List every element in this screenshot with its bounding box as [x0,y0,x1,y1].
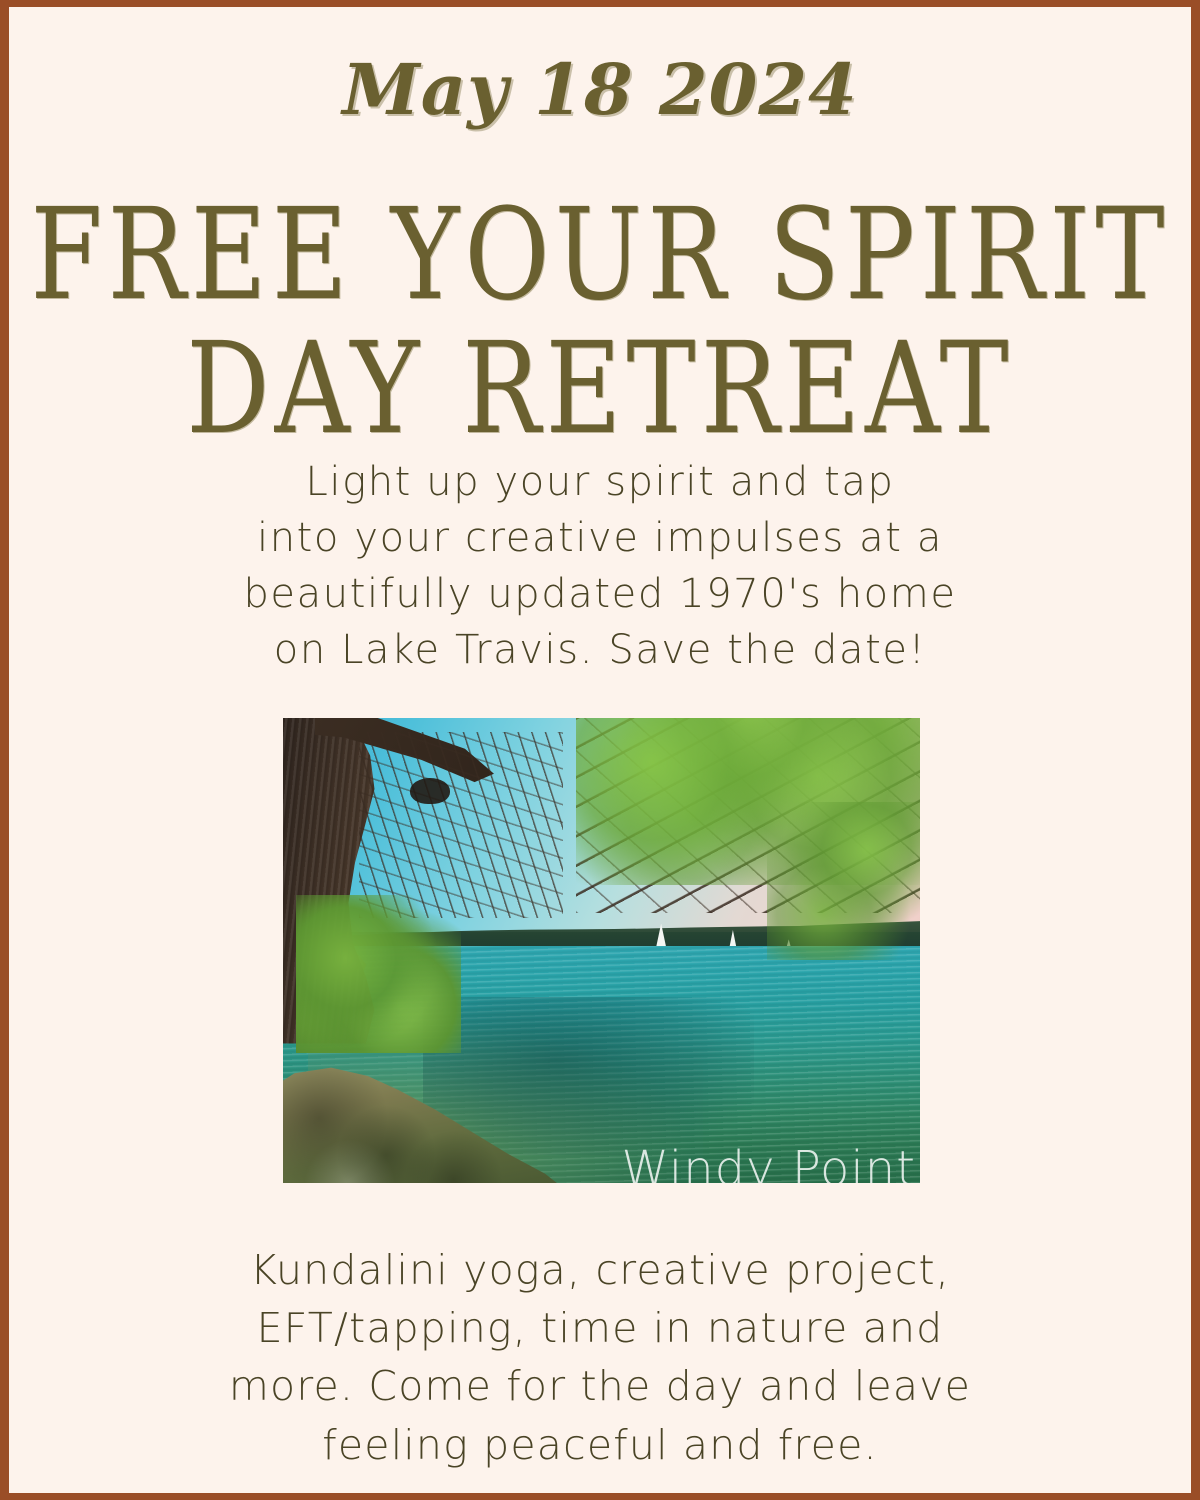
activities-paragraph: Kundalini yoga, creative project, EFT/ta… [129,1241,1071,1474]
activities-line-4: feeling peaceful and free. [129,1416,1071,1474]
page-title: Free Your Spirit Day Retreat [9,193,1191,429]
lake-photo: Windy Point [283,718,920,1183]
event-date: May 18 2024 [9,55,1191,125]
activities-line-1: Kundalini yoga, creative project, [129,1241,1071,1299]
intro-line-2: into your creative impulses at a [159,510,1041,566]
intro-line-1: Light up your spirit and tap [159,454,1041,510]
activities-line-3: more. Come for the day and leave [129,1357,1071,1415]
left-foliage [296,895,462,1053]
activities-line-2: EFT/tapping, time in nature and [129,1299,1071,1357]
event-flyer: May 18 2024 Free Your Spirit Day Retreat… [0,0,1200,1500]
bare-twigs [359,732,563,918]
right-leaves [767,802,920,960]
photo-watermark: Windy Point [622,1145,916,1183]
intro-line-4: on Lake Travis. Save the date! [159,622,1041,678]
title-line-1: Free Your Spirit [9,193,1191,317]
birds-nest [410,778,450,804]
title-line-2: Day Retreat [9,327,1191,451]
deep-water-shadow [423,997,754,1155]
intro-paragraph: Light up your spirit and tap into your c… [159,454,1041,678]
intro-line-3: beautifully updated 1970's home [159,566,1041,622]
